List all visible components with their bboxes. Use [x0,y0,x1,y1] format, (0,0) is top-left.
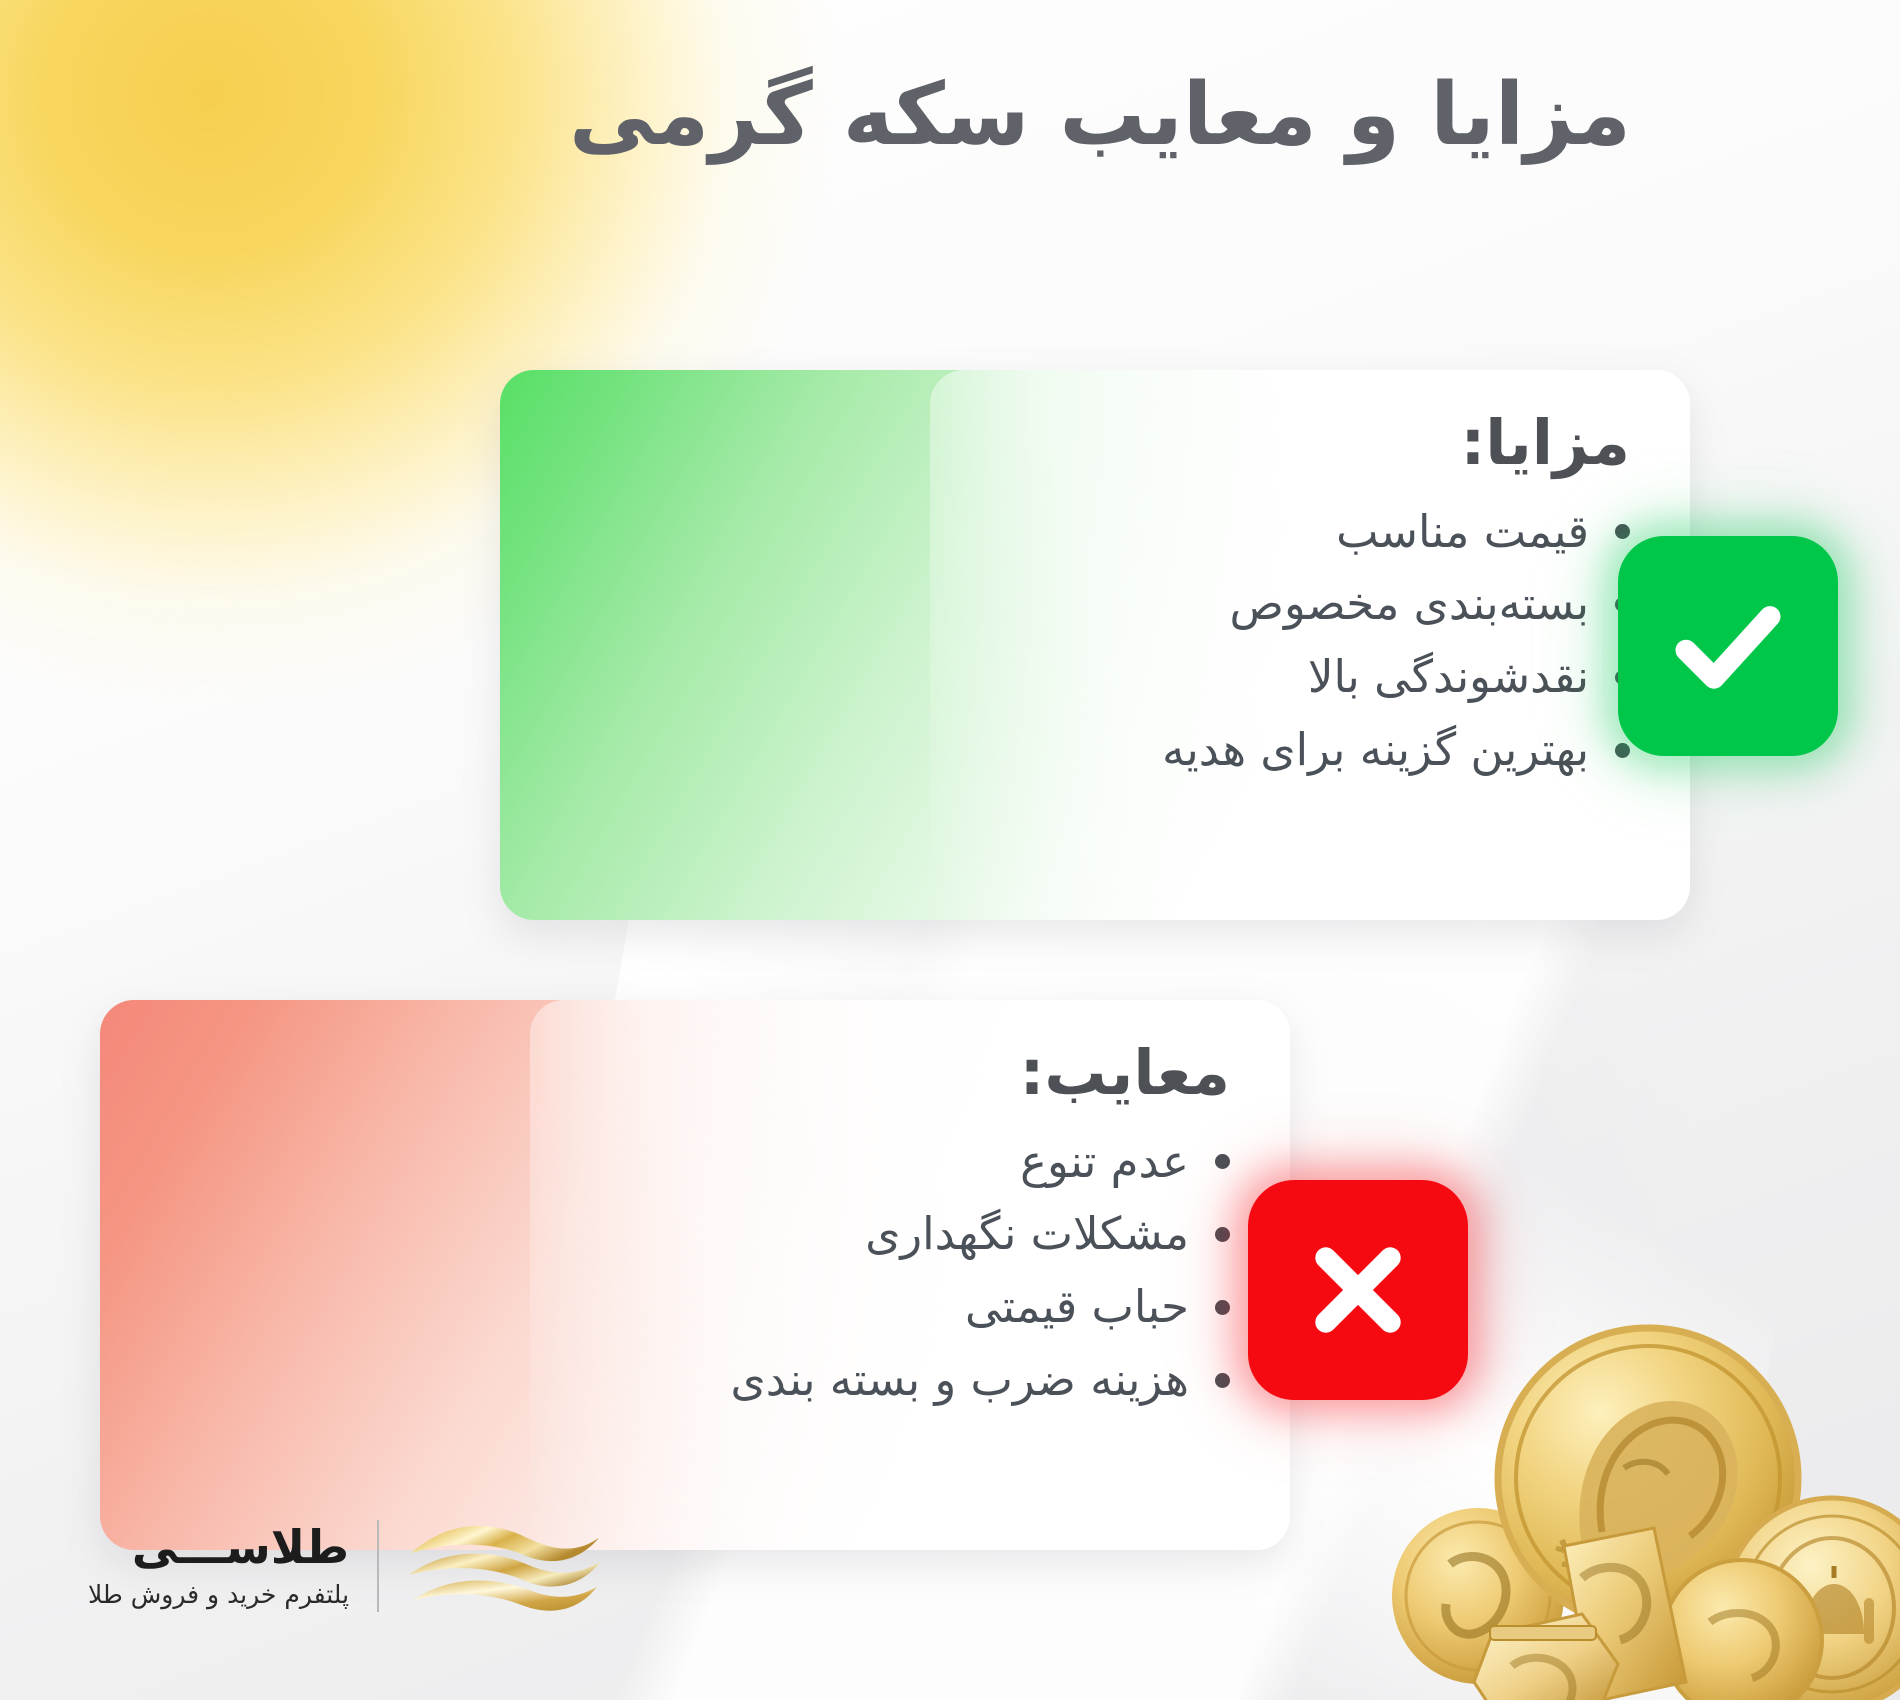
gold-wave-logo-mark [407,1514,603,1618]
list-item-label: بسته‌بندی مخصوص [1230,568,1589,641]
bullet-dot-icon [1215,1373,1230,1388]
list-item: نقدشوندگی بالا [970,641,1630,714]
list-item-label: بهترین گزینه برای هدیه [1162,714,1589,787]
brand-name: طلاســـی [88,1521,349,1574]
bullet-dot-icon [1215,1154,1230,1169]
list-item: بسته‌بندی مخصوص [970,568,1630,641]
page-title: مزایا و معایب سکه گرمی [480,60,1720,172]
list-item: مشکلات نگهداری [570,1198,1230,1271]
bullet-dot-icon [1215,1300,1230,1315]
bullet-dot-icon [1615,743,1630,758]
list-item-label: قیمت مناسب [1336,496,1589,569]
brand-logo: طلاســـی پلتفرم خرید و فروش طلا [88,1514,603,1618]
list-item: قیمت مناسب [970,496,1630,569]
disadvantages-card-content: معایب: عدم تنوع مشکلات نگهداری حباب قیمت… [570,1000,1290,1550]
disadvantages-card: معایب: عدم تنوع مشکلات نگهداری حباب قیمت… [100,1000,1290,1550]
brand-tagline: پلتفرم خرید و فروش طلا [88,1578,349,1612]
bullet-dot-icon [1215,1227,1230,1242]
gold-coins-cluster [1386,1278,1900,1700]
advantages-list: قیمت مناسب بسته‌بندی مخصوص نقدشوندگی بال… [970,496,1630,788]
disadvantages-heading: معایب: [570,1034,1230,1112]
infographic-canvas: مزایا و معایب سکه گرمی مزایا: قیمت مناسب… [0,0,1900,1700]
disadvantages-list: عدم تنوع مشکلات نگهداری حباب قیمتی هزینه… [570,1126,1230,1418]
list-item-label: نقدشوندگی بالا [1308,641,1589,714]
list-item: هزینه ضرب و بسته بندی [570,1344,1230,1417]
bullet-dot-icon [1615,524,1630,539]
advantages-card-content: مزایا: قیمت مناسب بسته‌بندی مخصوص نقدشون… [970,370,1690,920]
list-item-label: مشکلات نگهداری [865,1198,1189,1271]
advantages-heading: مزایا: [970,404,1630,482]
list-item: عدم تنوع [570,1126,1230,1199]
list-item-label: هزینه ضرب و بسته بندی [731,1344,1189,1417]
list-item-label: حباب قیمتی [965,1271,1189,1344]
list-item: حباب قیمتی [570,1271,1230,1344]
logo-divider [377,1520,379,1612]
check-mark-icon [1618,536,1838,756]
list-item-label: عدم تنوع [1020,1126,1189,1199]
brand-text-block: طلاســـی پلتفرم خرید و فروش طلا [88,1521,349,1612]
list-item: بهترین گزینه برای هدیه [970,714,1630,787]
advantages-card: مزایا: قیمت مناسب بسته‌بندی مخصوص نقدشون… [500,370,1690,920]
